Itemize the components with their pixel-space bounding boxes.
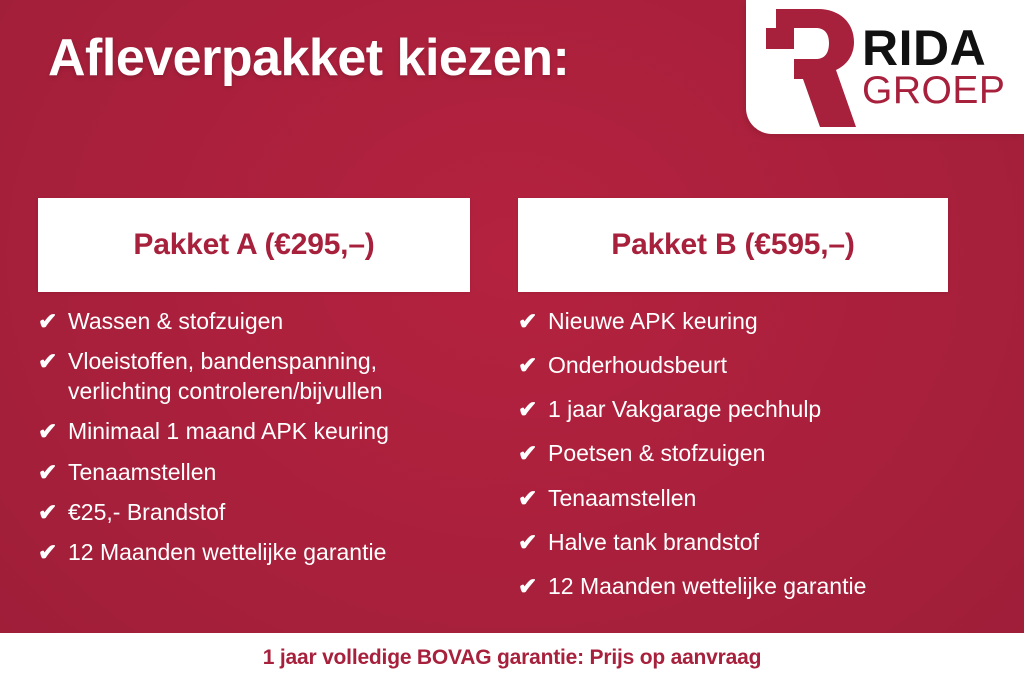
feature-label: 12 Maanden wettelijke garantie [548, 571, 948, 601]
logo-wordmark: RIDA GROEP [862, 25, 1005, 109]
check-icon: ✔ [518, 527, 548, 557]
check-icon: ✔ [518, 350, 548, 380]
feature-label: 12 Maanden wettelijke garantie [68, 537, 470, 567]
check-icon: ✔ [38, 537, 68, 567]
check-icon: ✔ [38, 306, 68, 336]
list-item: ✔ Wassen & stofzuigen [38, 306, 470, 336]
check-icon: ✔ [518, 571, 548, 601]
check-icon: ✔ [38, 416, 68, 446]
check-icon: ✔ [518, 438, 548, 468]
footer-text: 1 jaar volledige BOVAG garantie: Prijs o… [263, 646, 761, 670]
check-icon: ✔ [38, 457, 68, 487]
feature-label: Wassen & stofzuigen [68, 306, 470, 336]
feature-label: Vloeistoffen, bandenspanning, verlichtin… [68, 346, 470, 406]
package-card-b: Pakket B (€595,–) ✔ Nieuwe APK keuring ✔… [518, 198, 948, 615]
package-a-feature-list: ✔ Wassen & stofzuigen ✔ Vloeistoffen, ba… [38, 292, 470, 567]
list-item: ✔ Onderhoudsbeurt [518, 350, 948, 380]
package-card-a: Pakket A (€295,–) ✔ Wassen & stofzuigen … [38, 198, 470, 615]
list-item: ✔ Nieuwe APK keuring [518, 306, 948, 336]
promo-poster: Afleverpakket kiezen: RIDA GROEP Pakket … [0, 0, 1024, 682]
feature-label: Tenaamstellen [548, 483, 948, 513]
rida-r-mark-icon [758, 9, 856, 127]
check-icon: ✔ [518, 483, 548, 513]
list-item: ✔ 12 Maanden wettelijke garantie [38, 537, 470, 567]
logo-panel: RIDA GROEP [746, 0, 1024, 134]
check-icon: ✔ [38, 346, 68, 376]
list-item: ✔ Poetsen & stofzuigen [518, 438, 948, 468]
page-title: Afleverpakket kiezen: [48, 28, 569, 88]
list-item: ✔ Tenaamstellen [38, 457, 470, 487]
list-item: ✔ Vloeistoffen, bandenspanning, verlicht… [38, 346, 470, 406]
logo-secondary-word: GROEP [862, 73, 1005, 109]
check-icon: ✔ [38, 497, 68, 527]
feature-label: Tenaamstellen [68, 457, 470, 487]
feature-label: Halve tank brandstof [548, 527, 948, 557]
package-b-title: Pakket B (€595,–) [611, 228, 854, 262]
feature-label: Nieuwe APK keuring [548, 306, 948, 336]
package-a-title: Pakket A (€295,–) [133, 228, 374, 262]
feature-label: 1 jaar Vakgarage pechhulp [548, 394, 948, 424]
list-item: ✔ Minimaal 1 maand APK keuring [38, 416, 470, 446]
feature-label: Onderhoudsbeurt [548, 350, 948, 380]
check-icon: ✔ [518, 306, 548, 336]
list-item: ✔ Tenaamstellen [518, 483, 948, 513]
list-item: ✔ €25,- Brandstof [38, 497, 470, 527]
footer-bar: 1 jaar volledige BOVAG garantie: Prijs o… [0, 633, 1024, 682]
logo-primary-word: RIDA [862, 25, 1005, 71]
package-a-header: Pakket A (€295,–) [38, 198, 470, 292]
feature-label: Minimaal 1 maand APK keuring [68, 416, 470, 446]
packages-container: Pakket A (€295,–) ✔ Wassen & stofzuigen … [0, 198, 1024, 615]
feature-label: Poetsen & stofzuigen [548, 438, 948, 468]
list-item: ✔ 1 jaar Vakgarage pechhulp [518, 394, 948, 424]
list-item: ✔ 12 Maanden wettelijke garantie [518, 571, 948, 601]
feature-label: €25,- Brandstof [68, 497, 470, 527]
package-b-feature-list: ✔ Nieuwe APK keuring ✔ Onderhoudsbeurt ✔… [518, 292, 948, 601]
list-item: ✔ Halve tank brandstof [518, 527, 948, 557]
package-b-header: Pakket B (€595,–) [518, 198, 948, 292]
check-icon: ✔ [518, 394, 548, 424]
